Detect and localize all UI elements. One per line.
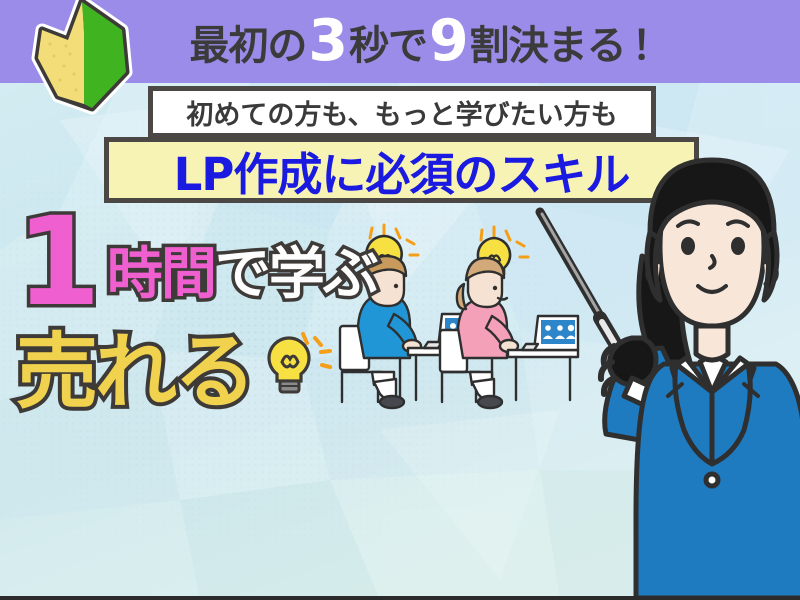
banner-percent-rest: 割決まる — [470, 13, 626, 71]
subtitle-white-text: 初めての方も、もっと学びたい方も — [186, 93, 617, 132]
teacher-illustration — [536, 150, 800, 598]
banner-exclamation: ！ — [626, 13, 671, 71]
thumbnail-canvas: 最初の3秒で9割決まる！ 初めての方も、もっと学びたい方も LP作成に必須のスキ… — [0, 0, 800, 600]
banner-number-seconds: 3 — [306, 16, 349, 67]
banner-prefix: 最初の — [189, 13, 306, 71]
banner-number-percent: 9 — [427, 16, 470, 67]
subtitle-white-box: 初めての方も、もっと学びたい方も — [148, 86, 656, 138]
wakaba-beginner-mark-icon — [22, 0, 142, 114]
banner-seconds-unit: 秒で — [349, 13, 427, 71]
